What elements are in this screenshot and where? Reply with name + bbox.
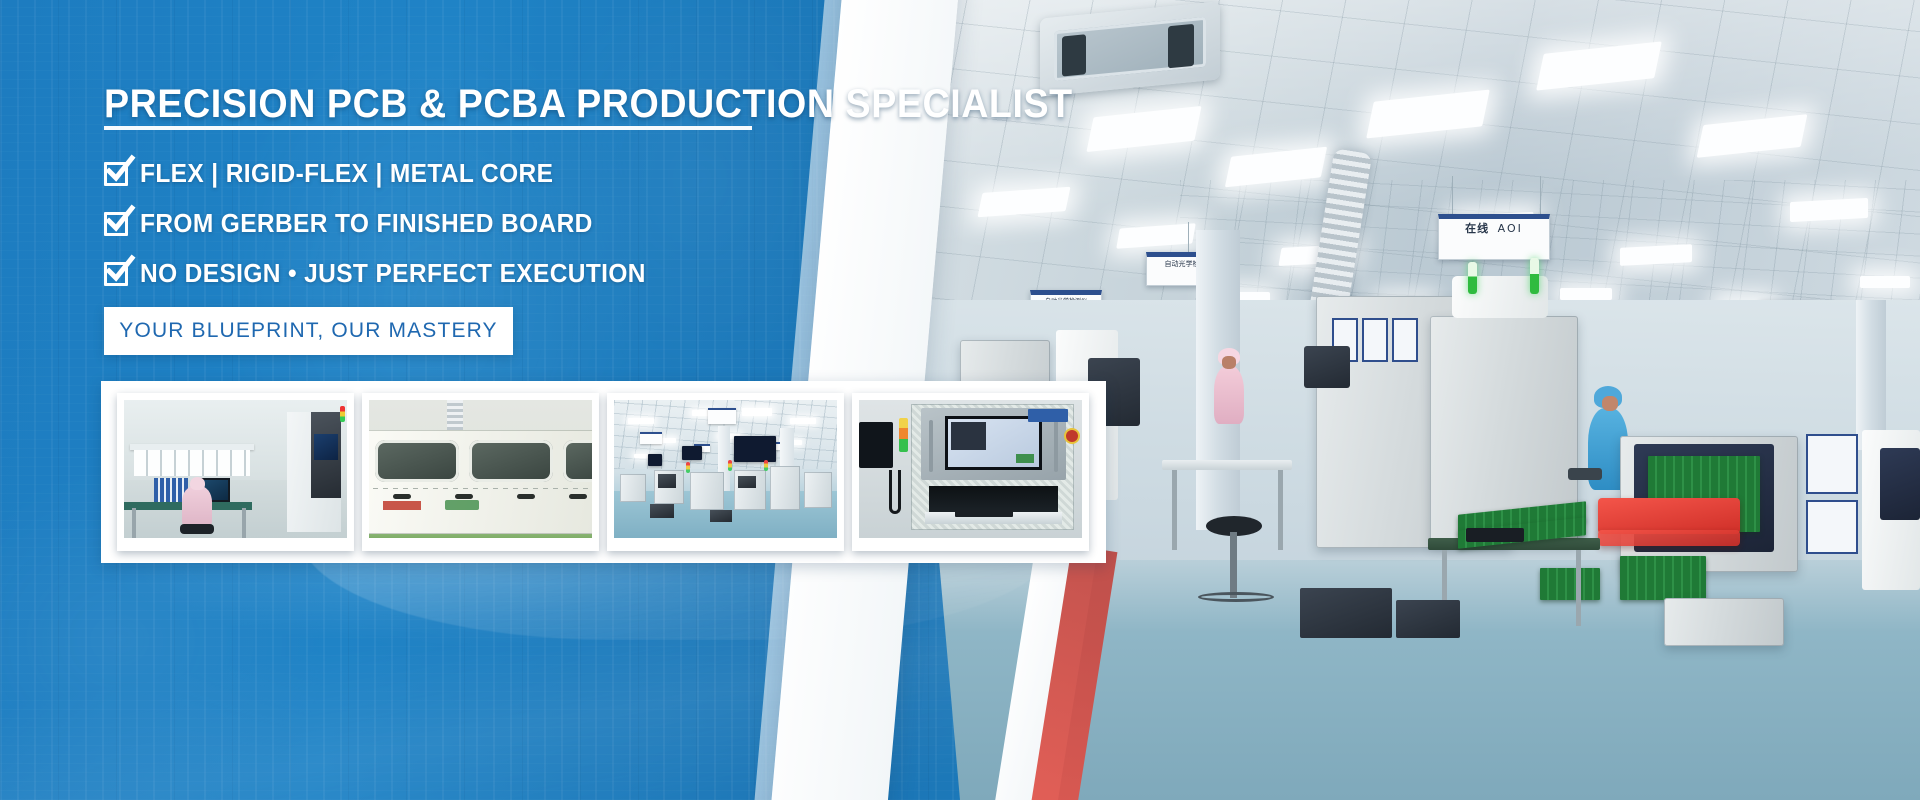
document-holder bbox=[1806, 500, 1858, 554]
feature-label: FLEX | RIGID-FLEX | METAL CORE bbox=[140, 160, 553, 189]
worker-pink-smock bbox=[1214, 366, 1244, 424]
ceiling-light bbox=[1790, 198, 1868, 222]
floor-equipment bbox=[1664, 598, 1784, 646]
machine-screen-panel bbox=[1304, 346, 1350, 388]
hanging-sign-aoi: 在线 AOI bbox=[1438, 214, 1550, 260]
pcb-stack bbox=[1540, 568, 1600, 600]
black-mat bbox=[1466, 528, 1524, 542]
stack-light bbox=[1468, 262, 1477, 294]
thumbnail-list bbox=[117, 393, 1089, 551]
cta-button-label: YOUR BLUEPRINT, OUR MASTERY bbox=[119, 319, 497, 343]
feature-label: NO DESIGN • JUST PERFECT EXECUTION bbox=[140, 260, 646, 289]
table-leg bbox=[1576, 550, 1581, 626]
ceiling-light bbox=[1560, 288, 1612, 300]
thumbnail-item[interactable] bbox=[852, 393, 1089, 551]
thumbnail-image-wave-solder-machine bbox=[369, 400, 592, 538]
ceiling-light bbox=[1860, 276, 1910, 288]
thumbnail-image-smt-floor bbox=[614, 400, 837, 538]
feature-label: FROM GERBER TO FINISHED BOARD bbox=[140, 210, 593, 239]
worker-face bbox=[1222, 356, 1236, 369]
thumbnail-item[interactable] bbox=[607, 393, 844, 551]
red-component-tray bbox=[1598, 530, 1740, 546]
thumbnail-item[interactable] bbox=[362, 393, 599, 551]
feature-list: FLEX | RIGID-FLEX | METAL CORE FROM GERB… bbox=[104, 150, 667, 300]
thumbnail-strip bbox=[101, 381, 1106, 563]
sign-wire bbox=[1188, 222, 1189, 252]
thumbnail-image-aoi-machine bbox=[859, 400, 1082, 538]
worker-glove bbox=[1568, 468, 1602, 480]
document-holder bbox=[1806, 434, 1858, 494]
worker-face bbox=[1602, 396, 1618, 411]
work-bench bbox=[1162, 460, 1292, 470]
page-title: PRECISION PCB & PCBA PRODUCTION SPECIALI… bbox=[104, 82, 1073, 127]
red-component-tray bbox=[1598, 498, 1740, 534]
list-item: NO DESIGN • JUST PERFECT EXECUTION bbox=[104, 250, 667, 298]
structural-pillar bbox=[1856, 300, 1886, 450]
floor-crate bbox=[1300, 588, 1392, 638]
table-leg bbox=[1278, 470, 1283, 550]
stool-post bbox=[1230, 532, 1237, 598]
thumbnail-image-inspection-bench bbox=[124, 400, 347, 538]
thumbnail-item[interactable] bbox=[117, 393, 354, 551]
checkbox-checked-icon bbox=[104, 262, 128, 286]
checkbox-checked-icon bbox=[104, 162, 128, 186]
hanging-sign-aoi-text: 在线 bbox=[1465, 222, 1489, 235]
stack-light bbox=[1530, 258, 1539, 294]
table-leg bbox=[1172, 470, 1177, 550]
sign-wire bbox=[1452, 176, 1453, 214]
title-underline-rule bbox=[104, 126, 752, 130]
stool-base bbox=[1198, 592, 1274, 602]
cta-button[interactable]: YOUR BLUEPRINT, OUR MASTERY bbox=[104, 307, 513, 355]
list-item: FLEX | RIGID-FLEX | METAL CORE bbox=[104, 150, 667, 198]
document-holder bbox=[1392, 318, 1418, 362]
pcb-stack bbox=[1620, 556, 1706, 600]
document-holder bbox=[1362, 318, 1388, 362]
list-item: FROM GERBER TO FINISHED BOARD bbox=[104, 200, 667, 248]
sign-wire bbox=[1540, 176, 1541, 214]
floor-crate bbox=[1396, 600, 1460, 638]
hero-banner: 在线 AOI 自动光学检测仪 自动光学检测仪 bbox=[0, 0, 1920, 800]
smt-machine-right-screen bbox=[1880, 448, 1920, 520]
hanging-sign-aoi-en: AOI bbox=[1498, 222, 1523, 235]
ceiling-light bbox=[1620, 244, 1692, 266]
checkbox-checked-icon bbox=[104, 212, 128, 236]
